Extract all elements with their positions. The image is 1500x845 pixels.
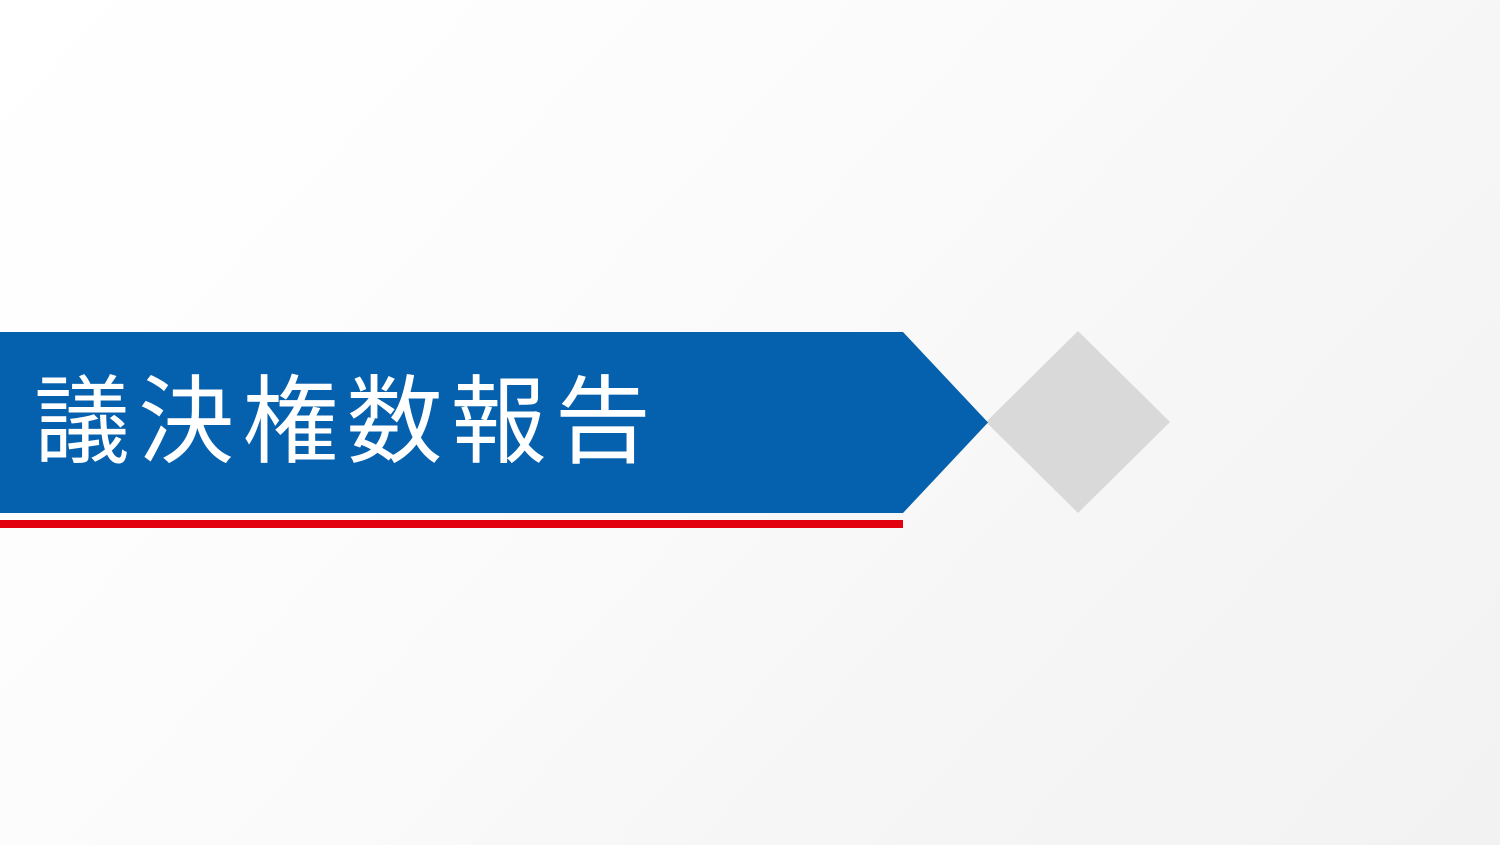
page-title: 議決権数報告 bbox=[0, 371, 659, 475]
slide-canvas: 議決権数報告 bbox=[0, 0, 1500, 845]
title-banner: 議決権数報告 bbox=[0, 332, 988, 513]
diamond-icon bbox=[986, 331, 1170, 513]
accent-rule bbox=[0, 520, 903, 528]
